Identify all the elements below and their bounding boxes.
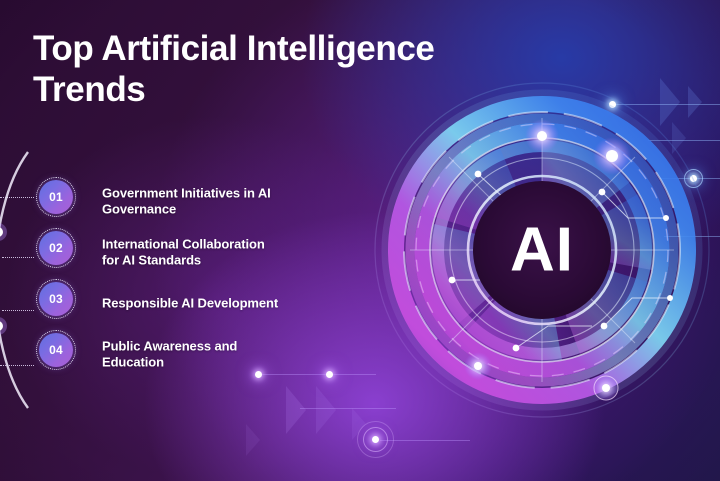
trend-badge-03[interactable]: 03 [36,279,76,319]
chevron-arrow-icon [246,424,260,456]
ai-hud-graphic: AI [366,74,718,426]
trend-label: Public Awareness and Education [102,338,342,371]
trend-label: International Collaboration for AI Stand… [102,236,342,269]
trend-list: 01 Government Initiatives in AI Governan… [0,176,345,380]
chevron-arrow-icon [316,386,336,434]
chevron-arrow-icon [286,386,306,434]
trend-badge-02[interactable]: 02 [36,228,76,268]
trend-number: 01 [39,180,73,214]
list-item[interactable]: 02 International Collaboration for AI St… [0,227,345,278]
list-item[interactable]: 03 Responsible AI Development [0,278,345,329]
trend-number: 03 [39,282,73,316]
trend-badge-04[interactable]: 04 [36,330,76,370]
trend-label: Responsible AI Development [102,295,342,312]
trend-label: Government Initiatives in AI Governance [102,185,342,218]
ai-core-label: AI [510,216,574,285]
list-item[interactable]: 01 Government Initiatives in AI Governan… [0,176,345,227]
page-title: Top Artificial Intelligence Trends [33,28,503,111]
infographic-canvas: AI Top Artificial Intelligence Trends 01… [0,0,720,481]
glow-ring-node-icon [357,421,394,458]
trend-number: 02 [39,231,73,265]
trend-badge-01[interactable]: 01 [36,177,76,217]
trend-number: 04 [39,333,73,367]
list-item[interactable]: 04 Public Awareness and Education [0,329,345,380]
